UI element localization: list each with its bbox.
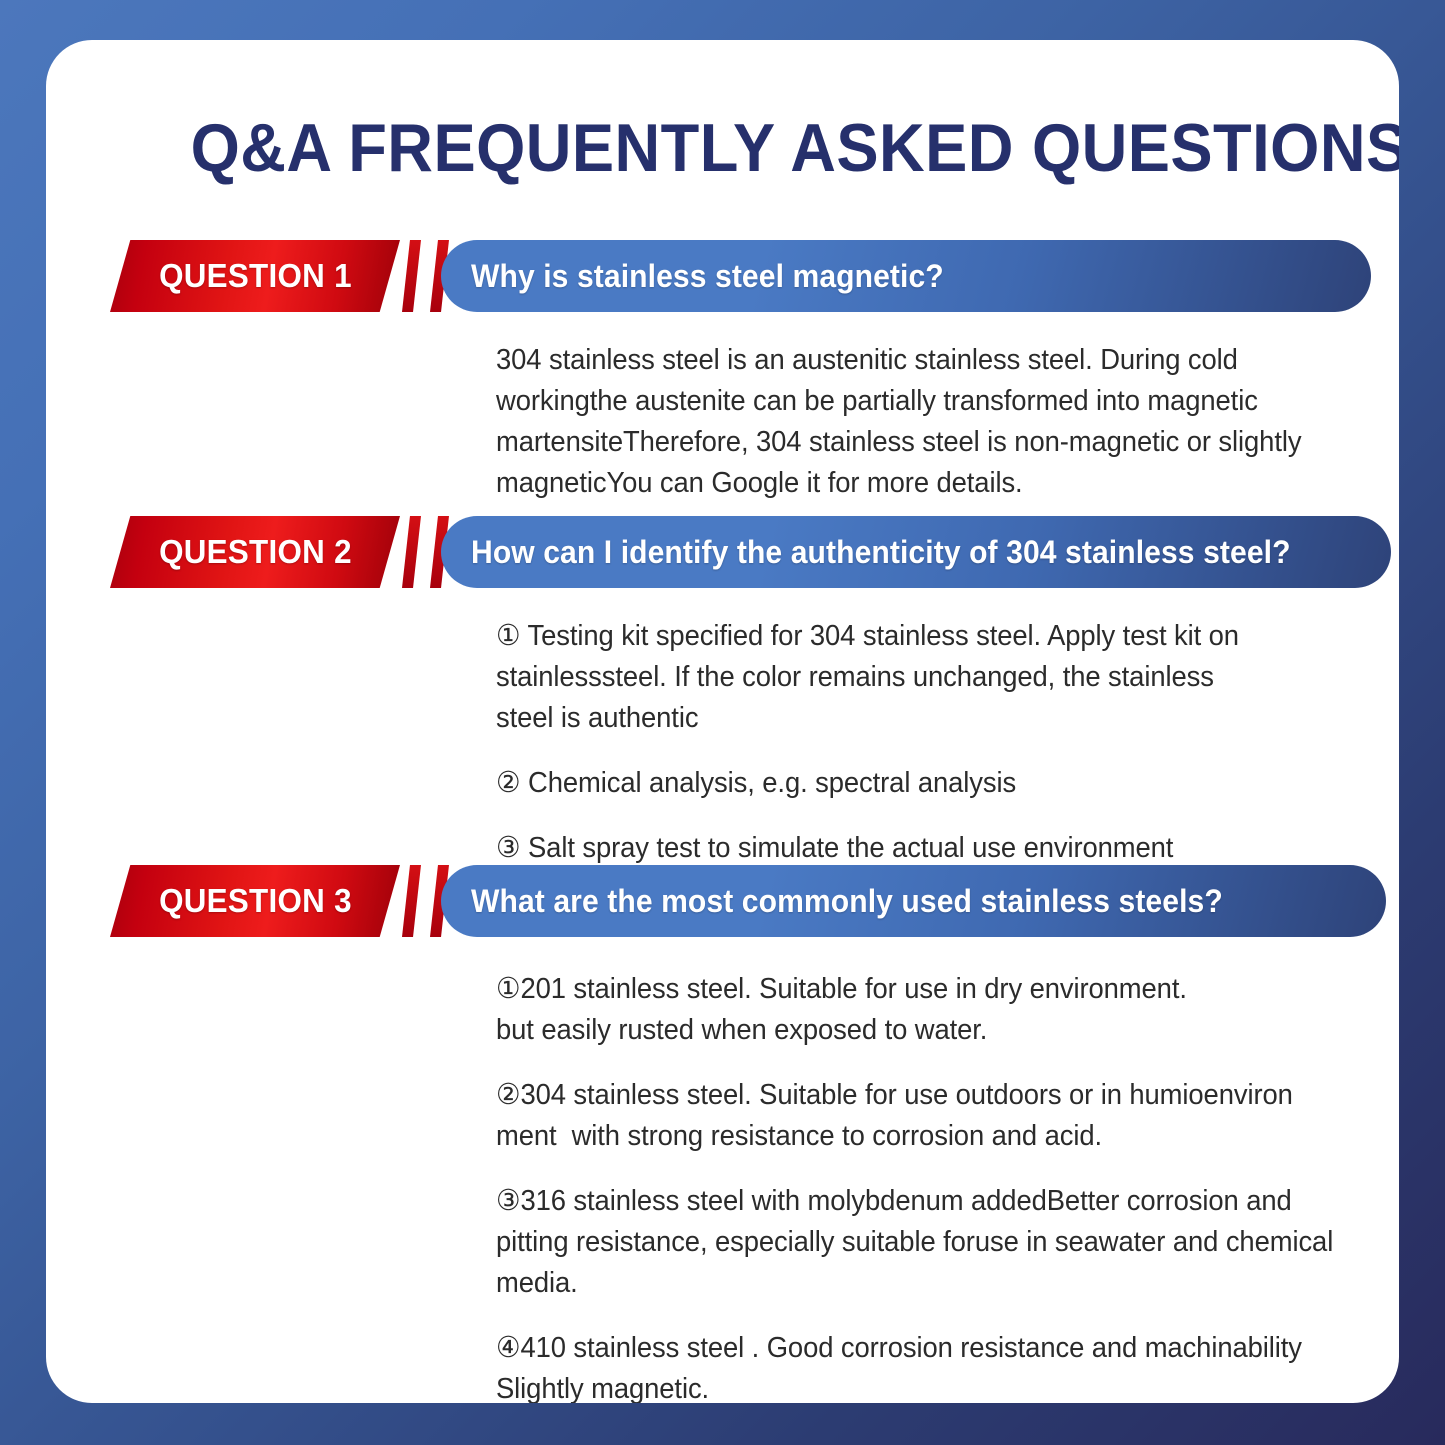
answer-paragraph: ③316 stainless steel with molybdenum add… — [496, 1181, 1333, 1304]
slash-divider-icon-2a — [402, 516, 421, 588]
answer-paragraph: ④410 stainless steel . Good corrosion re… — [496, 1328, 1333, 1403]
question-title-pill-1[interactable]: Why is stainless steel magnetic? — [441, 240, 1371, 312]
answer-paragraph: 304 stainless steel is an austenitic sta… — [496, 340, 1301, 504]
question-banner-2: QUESTION 2 How can I identify the authen… — [46, 516, 1399, 588]
question-number-label-2: QUESTION 2 — [159, 533, 352, 571]
content-card: Q&A FREQUENTLY ASKED QUESTIONS QUESTION … — [46, 40, 1399, 1403]
answer-paragraph: ② Chemical analysis, e.g. spectral analy… — [496, 763, 1239, 804]
question-number-tag-2[interactable]: QUESTION 2 — [110, 516, 400, 588]
faq-item-2: QUESTION 2 How can I identify the authen… — [46, 516, 1399, 588]
answer-paragraph: ① Testing kit specified for 304 stainles… — [496, 616, 1239, 739]
question-title-label-1: Why is stainless steel magnetic? — [471, 258, 944, 295]
answer-body-2: ① Testing kit specified for 304 stainles… — [496, 616, 1239, 869]
question-title-pill-3[interactable]: What are the most commonly used stainles… — [441, 865, 1386, 937]
answer-body-3: ①201 stainless steel. Suitable for use i… — [496, 969, 1333, 1403]
question-number-label-1: QUESTION 1 — [159, 257, 352, 295]
answer-paragraph: ③ Salt spray test to simulate the actual… — [496, 828, 1239, 869]
question-title-label-2: How can I identify the authenticity of 3… — [471, 534, 1291, 571]
question-title-pill-2[interactable]: How can I identify the authenticity of 3… — [441, 516, 1391, 588]
faq-infographic: Q&A FREQUENTLY ASKED QUESTIONS QUESTION … — [0, 0, 1445, 1445]
question-number-tag-1[interactable]: QUESTION 1 — [110, 240, 400, 312]
question-banner-1: QUESTION 1 Why is stainless steel magnet… — [46, 240, 1399, 312]
slash-divider-icon-3a — [402, 865, 421, 937]
question-title-label-3: What are the most commonly used stainles… — [471, 883, 1223, 920]
question-banner-3: QUESTION 3 What are the most commonly us… — [46, 865, 1399, 937]
question-number-tag-3[interactable]: QUESTION 3 — [110, 865, 400, 937]
faq-item-3: QUESTION 3 What are the most commonly us… — [46, 865, 1399, 937]
answer-paragraph: ②304 stainless steel. Suitable for use o… — [496, 1075, 1333, 1157]
answer-paragraph: ①201 stainless steel. Suitable for use i… — [496, 969, 1333, 1051]
page-title: Q&A FREQUENTLY ASKED QUESTIONS — [191, 106, 1270, 190]
answer-body-1: 304 stainless steel is an austenitic sta… — [496, 340, 1301, 504]
slash-divider-icon-1a — [402, 240, 421, 312]
question-number-label-3: QUESTION 3 — [159, 882, 352, 920]
faq-item-1: QUESTION 1 Why is stainless steel magnet… — [46, 240, 1399, 312]
